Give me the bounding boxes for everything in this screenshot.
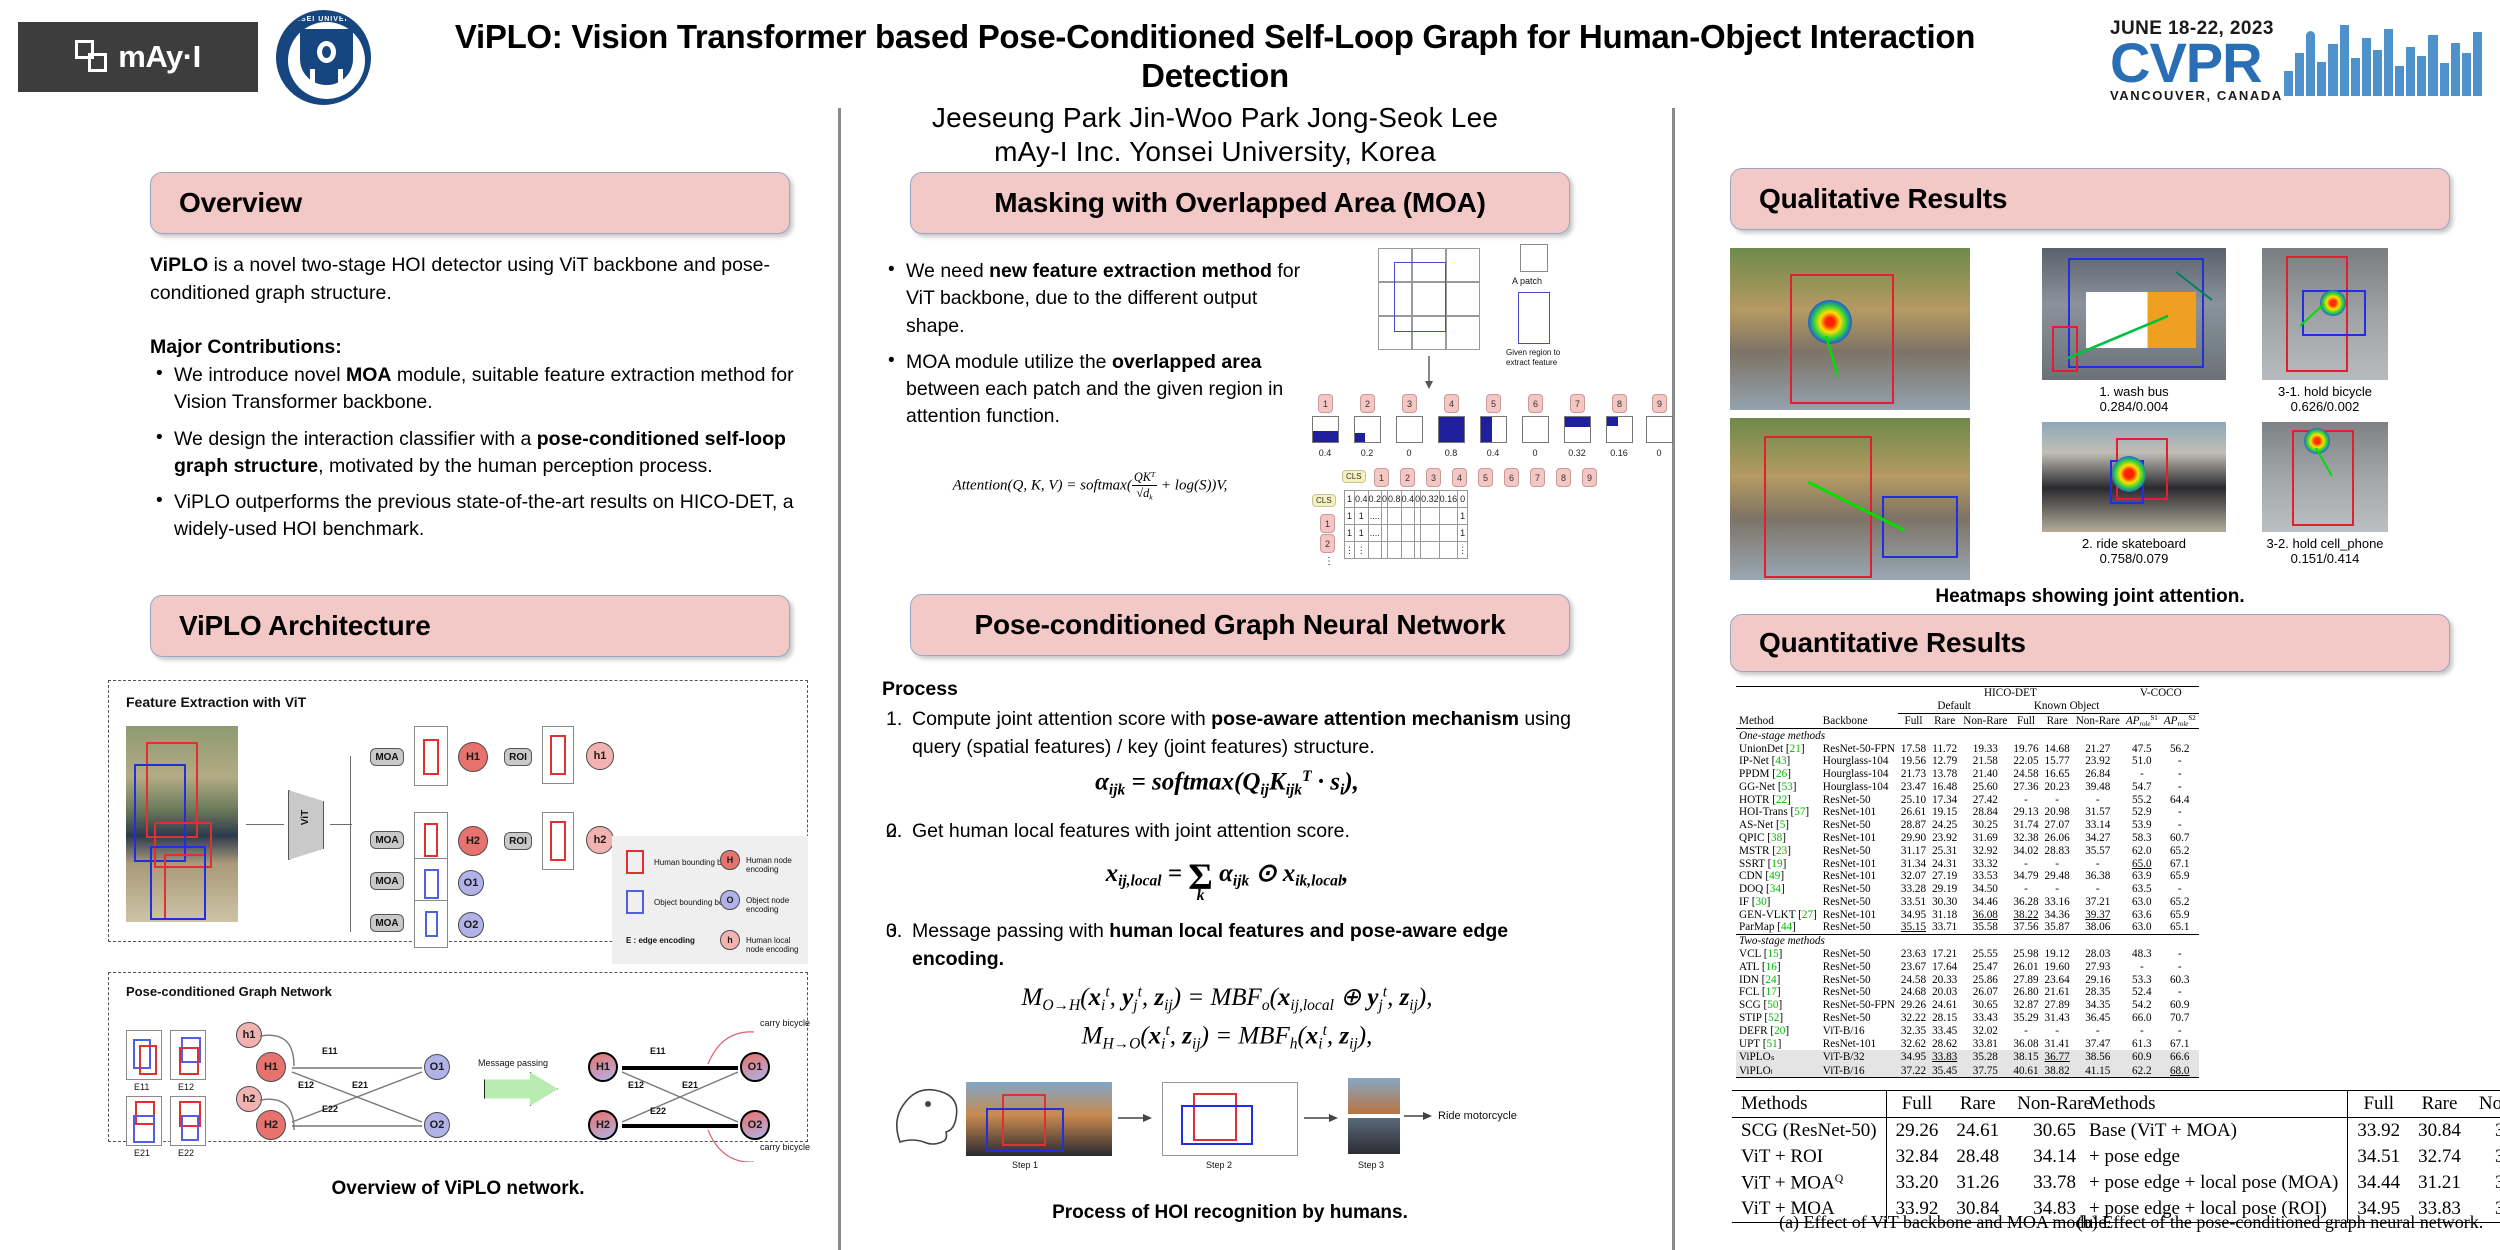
cell-value: 24.58 xyxy=(1898,973,1929,986)
cell-value: 38.82 xyxy=(2042,1064,2073,1078)
cell-value: 32.38 xyxy=(2010,832,2041,845)
cell-value: 25.60 xyxy=(1960,781,2010,794)
cell-value: 27.19 xyxy=(1929,870,1960,883)
cell-value: 29.90 xyxy=(1898,832,1929,845)
table-row: SCG (ResNet-50)29.2624.6130.65 xyxy=(1732,1118,2101,1145)
table-row: MSTR [23]ResNet-5031.1725.3132.9234.0228… xyxy=(1736,844,2199,857)
cell-method: ViT + ROI xyxy=(1732,1144,1886,1170)
legend-label: Human local node encoding xyxy=(746,936,808,954)
node-h2-local: h2 xyxy=(586,826,614,854)
edge-label: E11 xyxy=(650,1046,666,1056)
cell-value: 38.06 xyxy=(2073,921,2123,934)
cell-value: 17.58 xyxy=(1898,742,1929,755)
cell-value: 34.50 xyxy=(1960,883,2010,896)
formula-mo2h: MO→H(xit, yjt, zij) = MBFo(xij,local ⊕ y… xyxy=(882,982,1572,1015)
cell-backbone: ResNet-50 xyxy=(1820,793,1898,806)
gnn-steps: Compute joint attention score with pose-… xyxy=(882,706,1572,761)
cell-value: 33.16 xyxy=(2042,896,2073,909)
cell-value: 34.36 xyxy=(2042,908,2073,921)
cell-value: - xyxy=(2010,857,2041,870)
architecture-banner-label: ViPLO Architecture xyxy=(151,610,431,642)
cell-method: UPT [51] xyxy=(1736,1037,1820,1050)
cell-value: 20.98 xyxy=(2042,806,2073,819)
cell-value: 23.92 xyxy=(2073,755,2123,768)
pose-graph-title: Pose-conditioned Graph Network xyxy=(126,984,332,999)
cell-value: 21.73 xyxy=(1898,768,1929,781)
mayi-logo: mAy·I xyxy=(18,22,258,92)
motorcycle-photo xyxy=(966,1082,1112,1156)
cell-method: HOI-Trans [57] xyxy=(1736,806,1820,819)
cell-value: 60.9 xyxy=(2123,1050,2161,1064)
cell-value: 63.0 xyxy=(2123,921,2161,934)
cell-backbone: Hourglass-104 xyxy=(1820,781,1898,794)
edge-label: E22 xyxy=(650,1106,666,1116)
cell-value: 37.21 xyxy=(2073,896,2123,909)
cell-value: - xyxy=(2042,883,2073,896)
cell-backbone: ResNet-50 xyxy=(1820,973,1898,986)
step-label: Step 2 xyxy=(1206,1160,1232,1170)
cell-value: 36.38 xyxy=(2073,870,2123,883)
cell-value: 28.83 xyxy=(2042,844,2073,857)
cell-method: ViT + MOAQ xyxy=(1732,1170,1886,1196)
table-row: STIP [52]ResNet-5032.2228.1533.4335.2931… xyxy=(1736,1012,2199,1025)
table-row: GG-Net [53]Hourglass-10423.4716.4825.602… xyxy=(1736,781,2199,794)
cell-value: 35.28 xyxy=(1960,1050,2010,1064)
cell-value: - xyxy=(2042,793,2073,806)
cell-value: 60.7 xyxy=(2161,832,2199,845)
cell-value: 65.1 xyxy=(2161,921,2199,934)
cell-method: SCG (ResNet-50) xyxy=(1732,1118,1886,1145)
list-item: We design the interaction classifier wit… xyxy=(150,426,840,481)
cell-value: 32.62 xyxy=(1898,1037,1929,1050)
table-row: IP-Net [43]Hourglass-10419.5612.7921.582… xyxy=(1736,755,2199,768)
cell-value: 35.57 xyxy=(2073,844,2123,857)
cell-method: + pose edge xyxy=(2080,1144,2348,1170)
cell-value: 19.56 xyxy=(1898,755,1929,768)
cell-value: 24.58 xyxy=(2010,768,2041,781)
list-item: We introduce novel MOA module, suitable … xyxy=(150,362,840,417)
table-row: HOI-Trans [57]ResNet-10126.6119.1528.842… xyxy=(1736,806,2199,819)
cell-value: 34.95 xyxy=(1898,908,1929,921)
gnn-banner-label: Pose-conditioned Graph Neural Network xyxy=(975,609,1506,641)
cell-value: 27.89 xyxy=(2042,999,2073,1012)
table-row: ViPLOₗViT-B/1637.2235.4537.7540.6138.824… xyxy=(1736,1064,2199,1078)
table-row: Base (ViT + MOA)33.9230.8434.83 xyxy=(2080,1118,2500,1145)
cell-value: 67.1 xyxy=(2161,1037,2199,1050)
message-passing-label: Message passing xyxy=(478,1058,548,1068)
column-header: AProleS1 xyxy=(2123,713,2161,729)
cell-value: 28.03 xyxy=(2073,948,2123,961)
section-title: One-stage methods xyxy=(1736,729,2199,742)
edge-label: E21 xyxy=(134,1148,150,1158)
legend-label: Object node encoding xyxy=(746,896,808,914)
moa-block: MOA xyxy=(370,748,404,766)
legend-label: Human bounding box xyxy=(654,858,730,867)
a-patch-label: A patch xyxy=(1512,276,1542,286)
qualitative-caption-3: 2. ride skateboard 0.758/0.079 xyxy=(2042,536,2226,566)
cell-value: - xyxy=(2161,819,2199,832)
cell-value: 29.16 xyxy=(2073,973,2123,986)
moa-block: MOA xyxy=(370,914,404,932)
table-row: ViT + MOAQ33.2031.2633.78 xyxy=(1732,1170,2101,1196)
cell-value: 25.98 xyxy=(2010,948,2041,961)
yonsei-logo: YONSEI UNIVERSITY xyxy=(276,10,371,105)
overview-banner: Overview xyxy=(150,172,790,234)
cell-method: GEN-VLKT [27] xyxy=(1736,908,1820,921)
cell-value: 33.45 xyxy=(1929,1024,1960,1037)
cell-value: 24.31 xyxy=(1929,857,1960,870)
cell-value: - xyxy=(2161,1024,2199,1037)
cell-value: 31.26 xyxy=(1947,1170,2008,1196)
cell-value: 21.27 xyxy=(2073,742,2123,755)
cell-value: 39.37 xyxy=(2073,908,2123,921)
cell-value: - xyxy=(2073,793,2123,806)
cell-value: - xyxy=(2123,768,2161,781)
ablation-b-rows: Base (ViT + MOA)33.9230.8434.83+ pose ed… xyxy=(2080,1118,2500,1223)
cell-value: - xyxy=(2123,960,2161,973)
cell-method: + pose edge + local pose (MOA) xyxy=(2080,1170,2348,1196)
cell-value: 35.04 xyxy=(2470,1144,2500,1170)
cell-method: SSRT [19] xyxy=(1736,857,1820,870)
cell-value: 52.4 xyxy=(2123,986,2161,999)
cell-value: 31.57 xyxy=(2073,806,2123,819)
node-o1: O1 xyxy=(458,870,484,896)
cell-value: - xyxy=(2161,960,2199,973)
table-row: ATL [16]ResNet-5023.6717.6425.4726.0119.… xyxy=(1736,960,2199,973)
qualitative-image-1 xyxy=(1730,248,1970,410)
cell-backbone: ResNet-101 xyxy=(1820,832,1898,845)
qualitative-caption: Heatmaps showing joint attention. xyxy=(1730,586,2450,608)
cell-value: 34.44 xyxy=(2348,1170,2409,1196)
cell-value: 37.75 xyxy=(1960,1064,2010,1078)
edge-label: E22 xyxy=(322,1104,338,1114)
edge-label: E12 xyxy=(178,1082,194,1092)
node-h1-local: h1 xyxy=(586,742,614,770)
cell-value: 17.64 xyxy=(1929,960,1960,973)
cell-value: 36.08 xyxy=(1960,908,2010,921)
cell-value: 34.35 xyxy=(2073,999,2123,1012)
cell-value: 23.63 xyxy=(1898,948,1929,961)
cell-value: 33.71 xyxy=(1929,921,1960,934)
cell-value: 34.46 xyxy=(1960,896,2010,909)
page-title: ViPLO: Vision Transformer based Pose-Con… xyxy=(395,18,2035,96)
cell-value: 55.2 xyxy=(2123,793,2161,806)
moa-bullets: We need new feature extraction method fo… xyxy=(882,258,1302,440)
ablation-a-rows: SCG (ResNet-50)29.2624.6130.65ViT + ROI3… xyxy=(1732,1118,2101,1223)
table-row: DOQ [34]ResNet-5033.2829.1934.50---63.5- xyxy=(1736,883,2199,896)
step3-thumb-bottom xyxy=(1348,1118,1400,1154)
cell-value: 65.2 xyxy=(2161,896,2199,909)
step2-diagram xyxy=(1162,1082,1298,1156)
group-header: HICO-DET xyxy=(1898,687,2123,700)
ablation-b-caption: (b) Effect of the pose-conditioned graph… xyxy=(2060,1212,2500,1233)
poster-header: mAy·I YONSEI UNIVERSITY ViPLO: Vision Tr… xyxy=(0,0,2500,108)
roi-block: ROI xyxy=(504,832,532,850)
cell-value: 60.3 xyxy=(2161,973,2199,986)
column-header: Method xyxy=(1736,713,1820,729)
edge-label: E21 xyxy=(682,1080,698,1090)
caption-label: 3-1. hold bicycle xyxy=(2248,384,2402,399)
caption-label: 3-2. hold cell_phone xyxy=(2248,536,2402,551)
cell-value: 56.2 xyxy=(2161,742,2199,755)
column-header: Rare xyxy=(2042,713,2073,729)
cell-backbone: ResNet-101 xyxy=(1820,908,1898,921)
cell-method: STIP [52] xyxy=(1736,1012,1820,1025)
cell-value: 63.0 xyxy=(2123,896,2161,909)
column-header: Backbone xyxy=(1820,713,1898,729)
sub-header: Known Object xyxy=(2010,700,2122,713)
cell-value: 66.6 xyxy=(2161,1050,2199,1064)
column-header: Rare xyxy=(1947,1091,2008,1118)
cyclist-photo xyxy=(126,726,238,922)
cell-value: 29.13 xyxy=(2010,806,2041,819)
cell-value: 30.30 xyxy=(1929,896,1960,909)
cell-backbone: ViT-B/16 xyxy=(1820,1064,1898,1078)
caption-label: 1. wash bus xyxy=(2042,384,2226,399)
cell-method: ViPLOₗ xyxy=(1736,1064,1820,1078)
cell-value: 40.61 xyxy=(2010,1064,2041,1078)
cell-value: 28.84 xyxy=(1960,806,2010,819)
cell-value: 31.69 xyxy=(1960,832,2010,845)
cell-value: - xyxy=(2161,948,2199,961)
cell-value: 37.47 xyxy=(2073,1037,2123,1050)
cell-value: - xyxy=(2010,883,2041,896)
cell-backbone: ResNet-50 xyxy=(1820,883,1898,896)
cell-value: - xyxy=(2161,883,2199,896)
cell-backbone: Hourglass-104 xyxy=(1820,755,1898,768)
table-row: IF [30]ResNet-5033.5130.3034.4636.2833.1… xyxy=(1736,896,2199,909)
cell-value: 30.65 xyxy=(1960,999,2010,1012)
cell-value: 28.87 xyxy=(1898,819,1929,832)
caption-score: 0.758/0.079 xyxy=(2042,551,2226,566)
arrow-right-icon xyxy=(1304,1112,1340,1124)
cell-value: 36.45 xyxy=(2073,1012,2123,1025)
table-row: ViT + ROI32.8428.4834.14 xyxy=(1732,1144,2101,1170)
step-label: Step 1 xyxy=(1012,1160,1038,1170)
moa-banner: Masking with Overlapped Area (MOA) xyxy=(910,172,1570,234)
cell-value: 32.92 xyxy=(1960,844,2010,857)
vancouver-skyline-icon xyxy=(2284,22,2482,96)
edge-label: E21 xyxy=(352,1080,368,1090)
roi-block: ROI xyxy=(504,748,532,766)
cell-value: 29.26 xyxy=(1886,1118,1947,1145)
cell-value: 65.9 xyxy=(2161,908,2199,921)
cell-value: 32.87 xyxy=(2010,999,2041,1012)
cell-value: 33.32 xyxy=(1960,857,2010,870)
cell-method: FCL [17] xyxy=(1736,986,1820,999)
edge-label: E12 xyxy=(298,1080,314,1090)
cell-value: 35.87 xyxy=(2042,921,2073,934)
cell-value: 61.3 xyxy=(2123,1037,2161,1050)
list-item: 2.Get human local features with joint at… xyxy=(882,818,1572,846)
cell-method: MSTR [23] xyxy=(1736,844,1820,857)
table-row: SCG [50]ResNet-50-FPN29.2624.6130.6532.8… xyxy=(1736,999,2199,1012)
formula-mh2o: MH→O(xit, zij) = MBFh(xit, zij), xyxy=(882,1022,1572,1053)
qualitative-caption-1: 1. wash bus 0.284/0.004 xyxy=(2042,384,2226,414)
cell-method: Base (ViT + MOA) xyxy=(2080,1118,2348,1145)
cell-value: 33.43 xyxy=(1960,1012,2010,1025)
cell-backbone: ResNet-50 xyxy=(1820,819,1898,832)
table-row: + pose edge34.5132.7435.04 xyxy=(2080,1144,2500,1170)
column-header: Full xyxy=(1898,713,1929,729)
cell-value: 20.23 xyxy=(2042,781,2073,794)
table-row: FCL [17]ResNet-5024.6820.0326.0726.8021.… xyxy=(1736,986,2199,999)
cell-value: 62.0 xyxy=(2123,844,2161,857)
cell-value: 32.74 xyxy=(2409,1144,2470,1170)
table-row: QPIC [38]ResNet-10129.9023.9231.6932.382… xyxy=(1736,832,2199,845)
group-header: V-COCO xyxy=(2123,687,2199,700)
cell-method: AS-Net [5] xyxy=(1736,819,1820,832)
gnn-banner: Pose-conditioned Graph Neural Network xyxy=(910,594,1570,656)
cell-value: - xyxy=(2010,793,2041,806)
formula-xlocal: xij,local = Σk αijk ⊙ xik,local, xyxy=(882,856,1572,899)
table-row: ViPLOₛViT-B/3234.9533.8335.2838.1536.773… xyxy=(1736,1050,2199,1064)
cell-value: 14.68 xyxy=(2042,742,2073,755)
cell-value: 34.51 xyxy=(2348,1144,2409,1170)
column-header: Full xyxy=(1886,1091,1947,1118)
edge-label: E11 xyxy=(134,1082,149,1092)
table-row: SSRT [19]ResNet-10131.3424.3133.32---65.… xyxy=(1736,857,2199,870)
prediction-label: carry bicycle xyxy=(760,1142,810,1152)
cell-value: 33.14 xyxy=(2073,819,2123,832)
given-region-box xyxy=(1394,262,1446,332)
legend-object-box-icon xyxy=(626,890,644,914)
cell-backbone: ResNet-50-FPN xyxy=(1820,999,1898,1012)
cell-method: CDN [49] xyxy=(1736,870,1820,883)
list-item: We need new feature extraction method fo… xyxy=(882,258,1302,340)
cell-value: 30.84 xyxy=(2409,1118,2470,1145)
given-region-label: Given region to extract feature xyxy=(1506,348,1560,367)
hoi-output-label: Ride motorcycle xyxy=(1438,1110,1517,1122)
cell-value: 24.25 xyxy=(1929,819,1960,832)
cell-backbone: ResNet-50 xyxy=(1820,921,1898,934)
cell-method: VCL [15] xyxy=(1736,948,1820,961)
cell-value: 54.7 xyxy=(2123,781,2161,794)
cell-value: 64.4 xyxy=(2161,793,2199,806)
cell-value: 32.07 xyxy=(1898,870,1929,883)
vit-label: ViT xyxy=(300,810,311,825)
cell-value: 23.47 xyxy=(1898,781,1929,794)
cell-method: HOTR [22] xyxy=(1736,793,1820,806)
given-region-icon xyxy=(1518,292,1550,344)
cell-value: 66.0 xyxy=(2123,1012,2161,1025)
cell-value: 37.22 xyxy=(1898,1064,1929,1078)
cell-value: 32.02 xyxy=(1960,1024,2010,1037)
caption-score: 0.626/0.002 xyxy=(2248,399,2402,414)
cell-value: 63.5 xyxy=(2123,883,2161,896)
cell-value: 34.27 xyxy=(2073,832,2123,845)
cell-value: 47.5 xyxy=(2123,742,2161,755)
table-row: HOTR [22]ResNet-5025.1017.3427.42---55.2… xyxy=(1736,793,2199,806)
process-heading: Process xyxy=(882,676,958,704)
cell-value: 23.64 xyxy=(2042,973,2073,986)
cell-value: 12.79 xyxy=(1929,755,1960,768)
cell-value: 63.9 xyxy=(2123,870,2161,883)
cell-value: 24.68 xyxy=(1898,986,1929,999)
cell-value: 52.9 xyxy=(2123,806,2161,819)
cell-value: 63.6 xyxy=(2123,908,2161,921)
cell-value: - xyxy=(2161,781,2199,794)
contributions-list: We introduce novel MOA module, suitable … xyxy=(150,362,840,553)
architecture-caption: Overview of ViPLO network. xyxy=(108,1178,808,1200)
cell-value: 38.15 xyxy=(2010,1050,2041,1064)
cell-backbone: ResNet-50 xyxy=(1820,844,1898,857)
quantitative-banner: Quantitative Results xyxy=(1730,614,2450,672)
cell-value: - xyxy=(2161,768,2199,781)
cell-value: 28.15 xyxy=(1929,1012,1960,1025)
table-row: CDN [49]ResNet-10132.0727.1933.5334.7929… xyxy=(1736,870,2199,883)
cell-value: 34.83 xyxy=(2470,1118,2500,1145)
cell-value: 33.28 xyxy=(1898,883,1929,896)
cell-value: 26.61 xyxy=(1898,806,1929,819)
cell-value: 16.48 xyxy=(1929,781,1960,794)
cell-value: 19.33 xyxy=(1960,742,2010,755)
cell-value: 15.77 xyxy=(2042,755,2073,768)
cell-value: 34.95 xyxy=(1898,1050,1929,1064)
gnn-caption: Process of HOI recognition by humans. xyxy=(880,1202,1580,1224)
mayi-logo-text: mAy·I xyxy=(118,39,200,75)
cell-value: 23.92 xyxy=(1929,832,1960,845)
qualitative-image-6 xyxy=(2262,422,2388,532)
feature-extraction-title: Feature Extraction with ViT xyxy=(126,694,306,710)
yonsei-logo-text: YONSEI UNIVERSITY xyxy=(279,16,371,23)
cell-value: 20.03 xyxy=(1929,986,1960,999)
cell-value: 33.20 xyxy=(1886,1170,1947,1196)
prediction-label: carry bicycle xyxy=(760,1018,810,1028)
affiliation-list: mAy-I Inc. Yonsei University, Korea xyxy=(395,136,2035,168)
cell-value: 27.07 xyxy=(2042,819,2073,832)
legend-label: Human node encoding xyxy=(746,856,808,874)
cvpr-logo: JUNE 18-22, 2023 CVPR VANCOUVER, CANADA xyxy=(2110,18,2482,106)
qualitative-image-4 xyxy=(2262,248,2388,380)
cell-value: 70.7 xyxy=(2161,1012,2199,1025)
cell-backbone: ResNet-50 xyxy=(1820,896,1898,909)
cell-value: 17.34 xyxy=(1929,793,1960,806)
cell-value: 35.15 xyxy=(1898,921,1929,934)
cell-value: - xyxy=(2010,1024,2041,1037)
qualitative-banner-label: Qualitative Results xyxy=(1731,183,2007,215)
cell-value: 62.2 xyxy=(2123,1064,2161,1078)
cell-value: - xyxy=(2042,857,2073,870)
cell-value: 19.15 xyxy=(1929,806,1960,819)
cell-value: 32.84 xyxy=(1886,1144,1947,1170)
gnn-steps-3: 3.Message passing with human local featu… xyxy=(882,918,1572,973)
table-row: + pose edge + local pose (MOA)34.4431.21… xyxy=(2080,1170,2500,1196)
qualitative-caption-2: 3-1. hold bicycle 0.626/0.002 xyxy=(2248,384,2402,414)
contributions-heading: Major Contributions: xyxy=(150,334,342,362)
cell-method: ViPLOₛ xyxy=(1736,1050,1820,1064)
cell-value: 31.41 xyxy=(2042,1037,2073,1050)
cell-value: - xyxy=(2161,806,2199,819)
cell-value: 24.61 xyxy=(1929,999,1960,1012)
column-header: AProleS2 xyxy=(2161,713,2199,729)
cell-value: 28.35 xyxy=(2073,986,2123,999)
cell-backbone: ViT-B/32 xyxy=(1820,1050,1898,1064)
cell-value: 33.81 xyxy=(1960,1037,2010,1050)
cell-method: PPDM [26] xyxy=(1736,768,1820,781)
cell-value: 31.21 xyxy=(2409,1170,2470,1196)
list-item: 3.Message passing with human local featu… xyxy=(882,918,1572,973)
caption-score: 0.284/0.004 xyxy=(2042,399,2226,414)
cell-value: 31.17 xyxy=(1898,844,1929,857)
legend-label: Object bounding box xyxy=(654,898,727,907)
column-header: Full xyxy=(2348,1091,2409,1118)
legend-o-icon: O xyxy=(720,890,740,910)
column-header: Non-Rare xyxy=(2073,713,2123,729)
cell-method: ParMap [44] xyxy=(1736,921,1820,934)
cell-value: 27.42 xyxy=(1960,793,2010,806)
qualitative-image-2 xyxy=(1730,418,1970,580)
